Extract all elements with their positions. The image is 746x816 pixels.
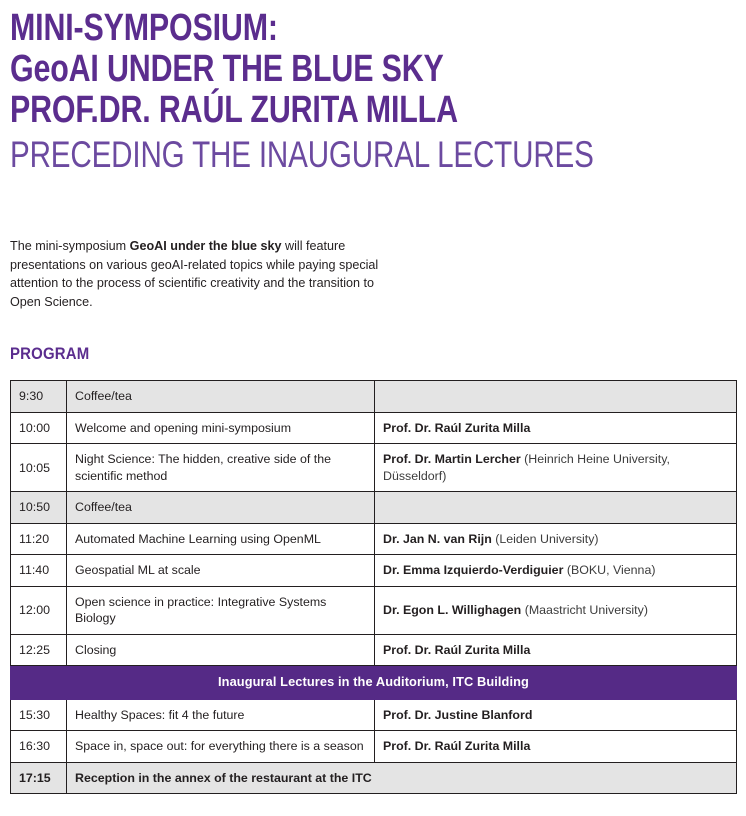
title-line-4-subtitle: PRECEDING THE INAUGURAL LECTURES — [10, 131, 736, 177]
program-time-cell: 10:50 — [11, 492, 67, 524]
program-speaker-cell: Dr. Egon L. Willighagen (Maastricht Univ… — [375, 586, 737, 634]
program-speaker-cell: Dr. Emma Izquierdo-Verdiguier (BOKU, Vie… — [375, 555, 737, 587]
title-line-2: GeoAI UNDER THE BLUE SKY — [10, 49, 736, 90]
program-time-cell: 10:05 — [11, 444, 67, 492]
program-table: 9:30Coffee/tea10:00Welcome and opening m… — [10, 380, 737, 794]
speaker-name: Prof. Dr. Justine Blanford — [383, 708, 532, 722]
speaker-name: Prof. Dr. Raúl Zurita Milla — [383, 643, 530, 657]
program-table-row: 17:15Reception in the annex of the resta… — [11, 762, 737, 794]
poster-title-block: MINI-SYMPOSIUM: GeoAI UNDER THE BLUE SKY… — [10, 0, 736, 177]
intro-emphasis: GeoAI under the blue sky — [130, 239, 282, 253]
program-heading: PROGRAM — [10, 344, 745, 364]
title-line-1: MINI-SYMPOSIUM: — [10, 8, 736, 49]
program-table-row: 10:05Night Science: The hidden, creative… — [11, 444, 737, 492]
speaker-name: Dr. Jan N. van Rijn — [383, 532, 492, 546]
program-speaker-cell: Prof. Dr. Raúl Zurita Milla — [375, 634, 737, 666]
program-speaker-cell: Prof. Dr. Raúl Zurita Milla — [375, 731, 737, 763]
speaker-name: Prof. Dr. Raúl Zurita Milla — [383, 739, 530, 753]
speaker-affiliation: (BOKU, Vienna) — [563, 563, 655, 577]
intro-paragraph: The mini-symposium GeoAI under the blue … — [10, 237, 382, 311]
program-topic-cell: Automated Machine Learning using OpenML — [67, 523, 375, 555]
program-table-row: 9:30Coffee/tea — [11, 381, 737, 413]
program-topic-cell: Reception in the annex of the restaurant… — [67, 762, 737, 794]
program-topic-cell: Open science in practice: Integrative Sy… — [67, 586, 375, 634]
program-banner-row: Inaugural Lectures in the Auditorium, IT… — [11, 666, 737, 700]
intro-part-1: The mini-symposium — [10, 239, 130, 253]
program-speaker-cell: Prof. Dr. Martin Lercher (Heinrich Heine… — [375, 444, 737, 492]
program-topic-cell: Coffee/tea — [67, 492, 375, 524]
program-speaker-cell: Dr. Jan N. van Rijn (Leiden University) — [375, 523, 737, 555]
program-time-cell: 16:30 — [11, 731, 67, 763]
program-topic-cell: Healthy Spaces: fit 4 the future — [67, 699, 375, 731]
program-time-cell: 15:30 — [11, 699, 67, 731]
program-table-body: 9:30Coffee/tea10:00Welcome and opening m… — [11, 381, 737, 794]
program-topic-cell: Welcome and opening mini-symposium — [67, 412, 375, 444]
program-topic-cell: Geospatial ML at scale — [67, 555, 375, 587]
speaker-affiliation: (Leiden University) — [492, 532, 599, 546]
program-topic-cell: Coffee/tea — [67, 381, 375, 413]
speaker-affiliation: (Maastricht University) — [521, 603, 648, 617]
program-table-row: 15:30Healthy Spaces: fit 4 the futurePro… — [11, 699, 737, 731]
program-time-cell: 9:30 — [11, 381, 67, 413]
banner-label: Inaugural Lectures in the Auditorium, IT… — [11, 666, 737, 700]
title-line-3: PROF.DR. RAÚL ZURITA MILLA — [10, 90, 736, 131]
program-speaker-cell: Prof. Dr. Raúl Zurita Milla — [375, 412, 737, 444]
program-topic-cell: Space in, space out: for everything ther… — [67, 731, 375, 763]
program-speaker-cell: Prof. Dr. Justine Blanford — [375, 699, 737, 731]
poster-page: MINI-SYMPOSIUM: GeoAI UNDER THE BLUE SKY… — [0, 0, 746, 816]
speaker-name: Prof. Dr. Raúl Zurita Milla — [383, 421, 530, 435]
program-speaker-cell — [375, 381, 737, 413]
program-time-cell: 10:00 — [11, 412, 67, 444]
speaker-name: Dr. Egon L. Willighagen — [383, 603, 521, 617]
speaker-name: Prof. Dr. Martin Lercher — [383, 452, 521, 466]
program-table-row: 12:25ClosingProf. Dr. Raúl Zurita Milla — [11, 634, 737, 666]
program-table-row: 10:50Coffee/tea — [11, 492, 737, 524]
program-time-cell: 12:25 — [11, 634, 67, 666]
speaker-name: Dr. Emma Izquierdo-Verdiguier — [383, 563, 563, 577]
program-time-cell: 11:40 — [11, 555, 67, 587]
program-table-row: 11:20Automated Machine Learning using Op… — [11, 523, 737, 555]
program-table-row: 11:40Geospatial ML at scaleDr. Emma Izqu… — [11, 555, 737, 587]
program-topic-cell: Closing — [67, 634, 375, 666]
program-time-cell: 17:15 — [11, 762, 67, 794]
program-time-cell: 11:20 — [11, 523, 67, 555]
program-table-row: 12:00Open science in practice: Integrati… — [11, 586, 737, 634]
program-table-row: 10:00Welcome and opening mini-symposiumP… — [11, 412, 737, 444]
program-speaker-cell — [375, 492, 737, 524]
program-topic-cell: Night Science: The hidden, creative side… — [67, 444, 375, 492]
program-time-cell: 12:00 — [11, 586, 67, 634]
program-table-row: 16:30Space in, space out: for everything… — [11, 731, 737, 763]
